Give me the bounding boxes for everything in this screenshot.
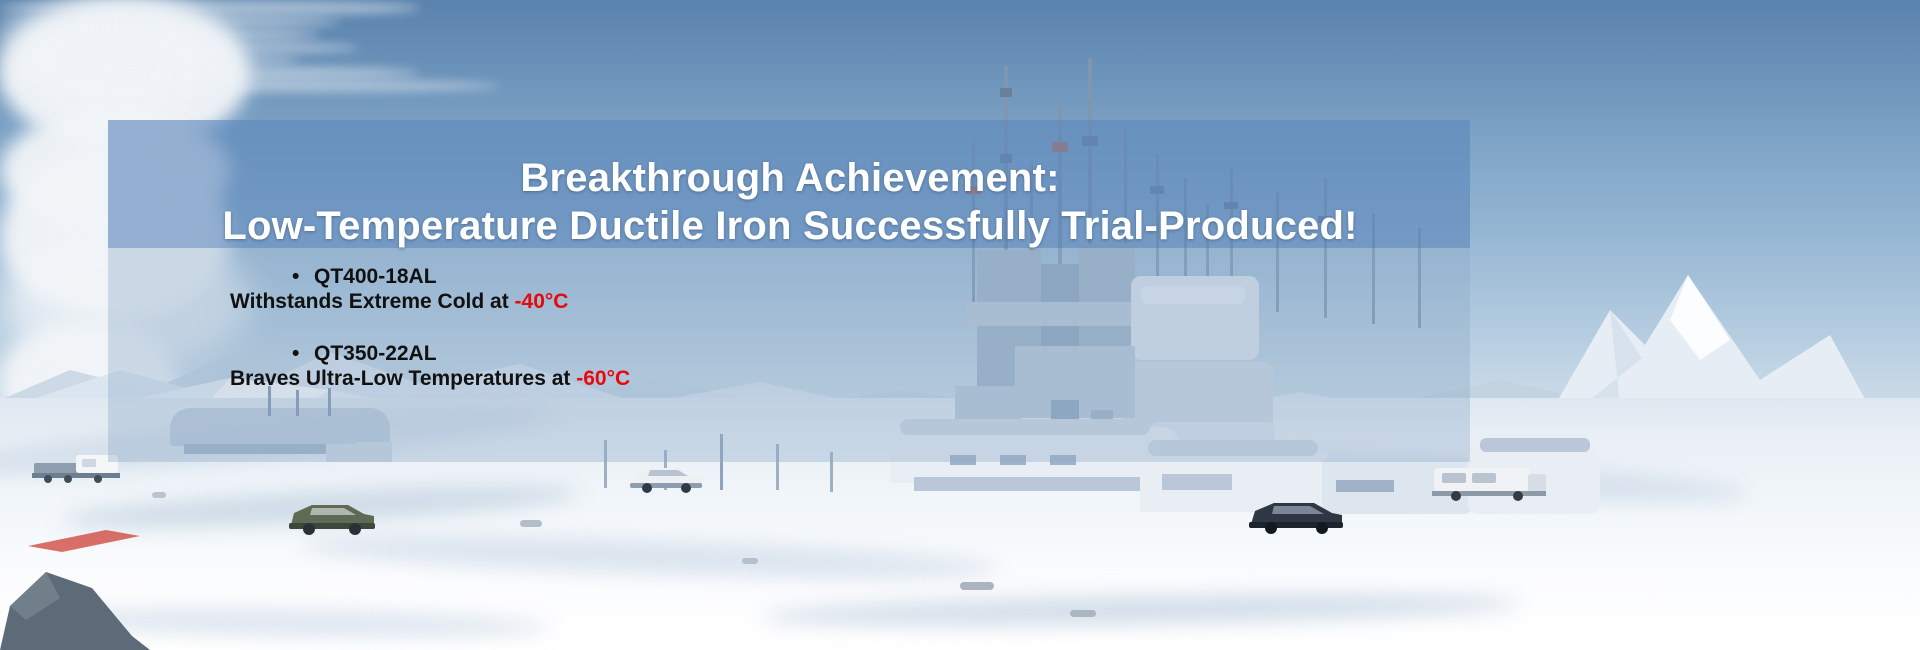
headline-line-1: Breakthrough Achievement: xyxy=(128,158,1452,198)
bullet-dot-icon: • xyxy=(292,343,314,364)
description-text: Withstands Extreme Cold at xyxy=(230,290,515,313)
headline-line-2: Low-Temperature Ductile Iron Successfull… xyxy=(128,206,1452,246)
page-title: Breakthrough Achievement: Low-Temperatur… xyxy=(108,158,1470,246)
material-description: Withstands Extreme Cold at -40°C xyxy=(230,291,1470,313)
text-overlay-panel: Breakthrough Achievement: Low-Temperatur… xyxy=(108,120,1470,462)
temperature-value: -60°C xyxy=(576,367,630,390)
banner-image: Breakthrough Achievement: Low-Temperatur… xyxy=(0,0,1920,650)
bullet-dot-icon: • xyxy=(292,266,314,287)
snow-debris xyxy=(0,470,1920,650)
temperature-value: -40°C xyxy=(515,290,569,313)
bullet-heading-row: • QT400-18AL xyxy=(230,266,1470,288)
material-grade-label: QT400-18AL xyxy=(314,266,437,288)
description-text: Braves Ultra-Low Temperatures at xyxy=(230,367,576,390)
material-grade-label: QT350-22AL xyxy=(314,343,437,365)
cirrus-wisps xyxy=(0,0,500,92)
bullet-heading-row: • QT350-22AL xyxy=(230,343,1470,365)
material-description: Braves Ultra-Low Temperatures at -60°C xyxy=(230,368,1470,390)
bullet-list: • QT400-18AL Withstands Extreme Cold at … xyxy=(108,266,1470,390)
list-item: • QT350-22AL Braves Ultra-Low Temperatur… xyxy=(230,343,1470,390)
list-item: • QT400-18AL Withstands Extreme Cold at … xyxy=(230,266,1470,313)
